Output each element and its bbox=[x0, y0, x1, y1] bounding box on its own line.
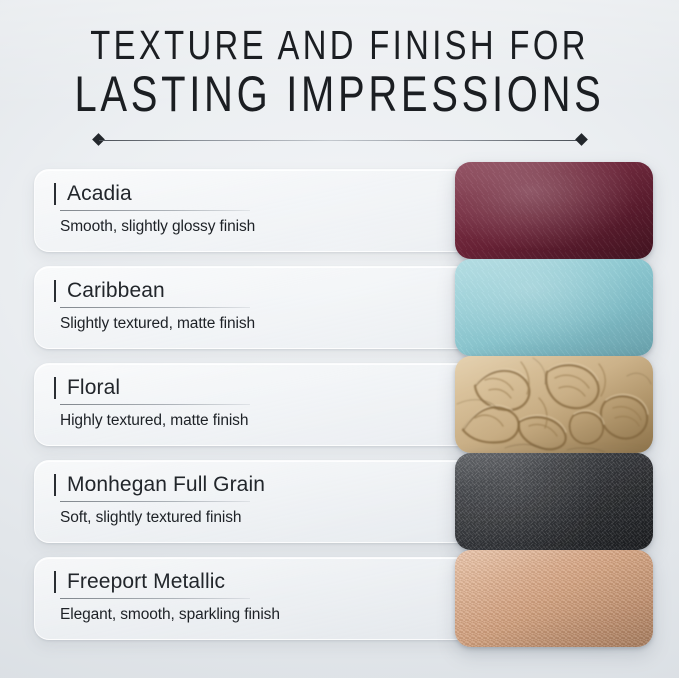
swatch-name: Monhegan Full Grain bbox=[67, 472, 467, 498]
swatch-row-5[interactable]: Freeport Metallic Elegant, smooth, spark… bbox=[34, 550, 655, 647]
swatch-row-1[interactable]: Acadia Smooth, slightly glossy finish bbox=[34, 162, 655, 259]
swatch-list: Acadia Smooth, slightly glossy finish Ca… bbox=[0, 162, 679, 647]
swatch-row-4[interactable]: Monhegan Full Grain Soft, slightly textu… bbox=[34, 453, 655, 550]
swatch-caribbean[interactable] bbox=[455, 259, 653, 356]
swatch-name-line: Monhegan Full Grain bbox=[54, 472, 467, 499]
swatch-sheen bbox=[455, 550, 653, 647]
swatch-card-body: Floral Highly textured, matte finish bbox=[54, 375, 467, 430]
title-divider bbox=[94, 134, 586, 146]
swatch-name-underline bbox=[60, 404, 250, 405]
swatch-row-3[interactable]: Floral Highly textured, matte finish bbox=[34, 356, 655, 453]
swatch-name: Floral bbox=[67, 375, 467, 401]
swatch-name: Acadia bbox=[67, 181, 467, 207]
swatch-row-2[interactable]: Caribbean Slightly textured, matte finis… bbox=[34, 259, 655, 356]
accent-bar-icon bbox=[54, 377, 56, 399]
swatch-card-body: Caribbean Slightly textured, matte finis… bbox=[54, 278, 467, 333]
swatch-name-underline bbox=[60, 307, 250, 308]
swatch-freeport-metallic[interactable] bbox=[455, 550, 653, 647]
swatch-name-line: Freeport Metallic bbox=[54, 569, 467, 596]
page-title-line-1: TEXTURE AND FINISH FOR bbox=[68, 24, 611, 67]
swatch-card-body: Acadia Smooth, slightly glossy finish bbox=[54, 181, 467, 236]
page-header: TEXTURE AND FINISH FOR LASTING IMPRESSIO… bbox=[0, 0, 679, 146]
swatch-name-underline bbox=[60, 210, 250, 211]
swatch-card-body: Monhegan Full Grain Soft, slightly textu… bbox=[54, 472, 467, 527]
diamond-icon-right bbox=[575, 133, 588, 146]
swatch-description: Slightly textured, matte finish bbox=[60, 315, 467, 333]
swatch-description: Highly textured, matte finish bbox=[60, 412, 467, 430]
accent-bar-icon bbox=[54, 280, 56, 302]
swatch-sheen bbox=[455, 162, 653, 259]
swatch-name-underline bbox=[60, 501, 250, 502]
swatch-description: Soft, slightly textured finish bbox=[60, 509, 467, 527]
accent-bar-icon bbox=[54, 571, 56, 593]
swatch-name-underline bbox=[60, 598, 250, 599]
accent-bar-icon bbox=[54, 474, 56, 496]
accent-bar-icon bbox=[54, 183, 56, 205]
swatch-name-line: Caribbean bbox=[54, 278, 467, 305]
swatch-name-line: Floral bbox=[54, 375, 467, 402]
swatch-name: Freeport Metallic bbox=[67, 569, 467, 595]
swatch-description: Elegant, smooth, sparkling finish bbox=[60, 606, 467, 624]
infographic-page: TEXTURE AND FINISH FOR LASTING IMPRESSIO… bbox=[0, 0, 679, 678]
swatch-sheen bbox=[455, 259, 653, 356]
swatch-card-body: Freeport Metallic Elegant, smooth, spark… bbox=[54, 569, 467, 624]
swatch-description: Smooth, slightly glossy finish bbox=[60, 218, 467, 236]
swatch-name-line: Acadia bbox=[54, 181, 467, 208]
swatch-sheen bbox=[455, 356, 653, 453]
swatch-monhegan-full-grain[interactable] bbox=[455, 453, 653, 550]
swatch-acadia[interactable] bbox=[455, 162, 653, 259]
swatch-floral[interactable] bbox=[455, 356, 653, 453]
swatch-name: Caribbean bbox=[67, 278, 467, 304]
divider-rule bbox=[99, 140, 581, 141]
page-title-line-2: LASTING IMPRESSIONS bbox=[68, 68, 611, 120]
swatch-sheen bbox=[455, 453, 653, 550]
